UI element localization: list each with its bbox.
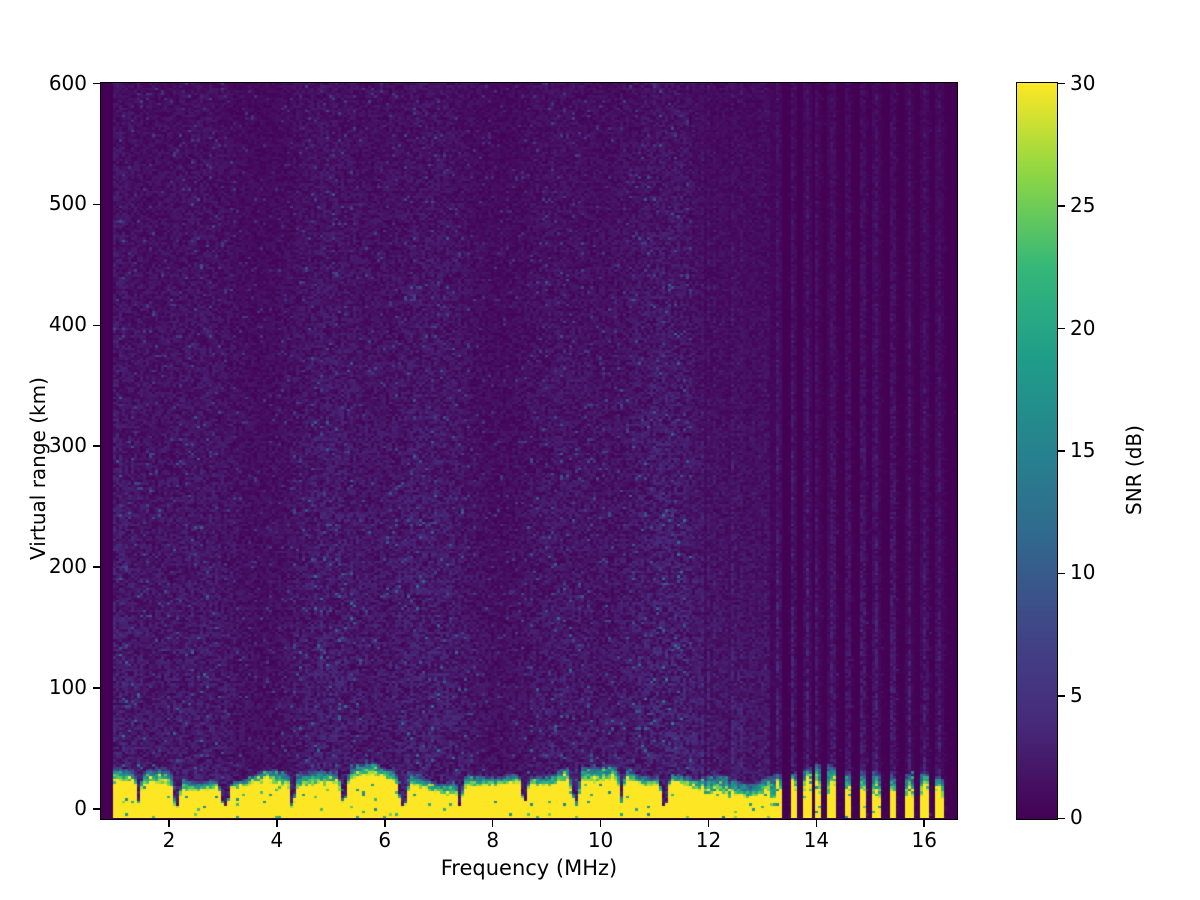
y-tick-mark: [93, 808, 100, 810]
y-tick-mark: [93, 566, 100, 568]
x-tick-mark: [384, 820, 386, 827]
y-tick-label: 0: [0, 796, 87, 820]
y-tick-mark: [93, 83, 100, 85]
colorbar-label: SNR (dB): [1122, 425, 1146, 515]
y-tick-mark: [93, 445, 100, 447]
colorbar-tick-mark: [1058, 818, 1065, 820]
y-tick-label: 400: [0, 312, 87, 336]
colorbar-tick-label: 5: [1070, 683, 1083, 707]
x-tick-label: 4: [247, 828, 307, 852]
x-axis-label: Frequency (MHz): [100, 856, 958, 880]
colorbar-tick-label: 25: [1070, 193, 1095, 217]
x-tick-label: 10: [571, 828, 631, 852]
x-tick-mark: [492, 820, 494, 827]
colorbar-tick-label: 10: [1070, 560, 1095, 584]
colorbar-tick-mark: [1058, 573, 1065, 575]
colorbar-tick-mark: [1058, 450, 1065, 452]
x-tick-label: 8: [463, 828, 523, 852]
x-tick-mark: [168, 820, 170, 827]
colorbar-tick-label: 0: [1070, 805, 1083, 829]
x-tick-mark: [276, 820, 278, 827]
y-tick-label: 600: [0, 71, 87, 95]
x-tick-mark: [816, 820, 818, 827]
colorbar-tick-label: 15: [1070, 438, 1095, 462]
x-tick-label: 2: [139, 828, 199, 852]
y-axis-label: Virtual range (km): [26, 377, 50, 560]
colorbar-tick-mark: [1058, 695, 1065, 697]
ionogram-figure: IRF Kiruna Ionosonde KI167 2025-11-04 16…: [0, 0, 1200, 900]
x-tick-label: 16: [894, 828, 954, 852]
x-tick-label: 6: [355, 828, 415, 852]
colorbar-tick-label: 20: [1070, 316, 1095, 340]
y-tick-mark: [93, 325, 100, 327]
x-tick-label: 14: [786, 828, 846, 852]
y-tick-label: 100: [0, 675, 87, 699]
y-tick-mark: [93, 687, 100, 689]
colorbar-tick-mark: [1058, 83, 1065, 85]
ionogram-heatmap: [101, 83, 956, 818]
heatmap-plot-area[interactable]: [100, 82, 958, 820]
colorbar-tick-mark: [1058, 328, 1065, 330]
y-tick-mark: [93, 204, 100, 206]
x-tick-label: 12: [678, 828, 738, 852]
y-tick-label: 500: [0, 191, 87, 215]
x-tick-mark: [923, 820, 925, 827]
colorbar-gradient: [1017, 83, 1057, 819]
x-tick-mark: [708, 820, 710, 827]
colorbar-tick-mark: [1058, 205, 1065, 207]
x-tick-mark: [600, 820, 602, 827]
colorbar-tick-label: 30: [1070, 71, 1095, 95]
colorbar[interactable]: [1016, 82, 1058, 820]
